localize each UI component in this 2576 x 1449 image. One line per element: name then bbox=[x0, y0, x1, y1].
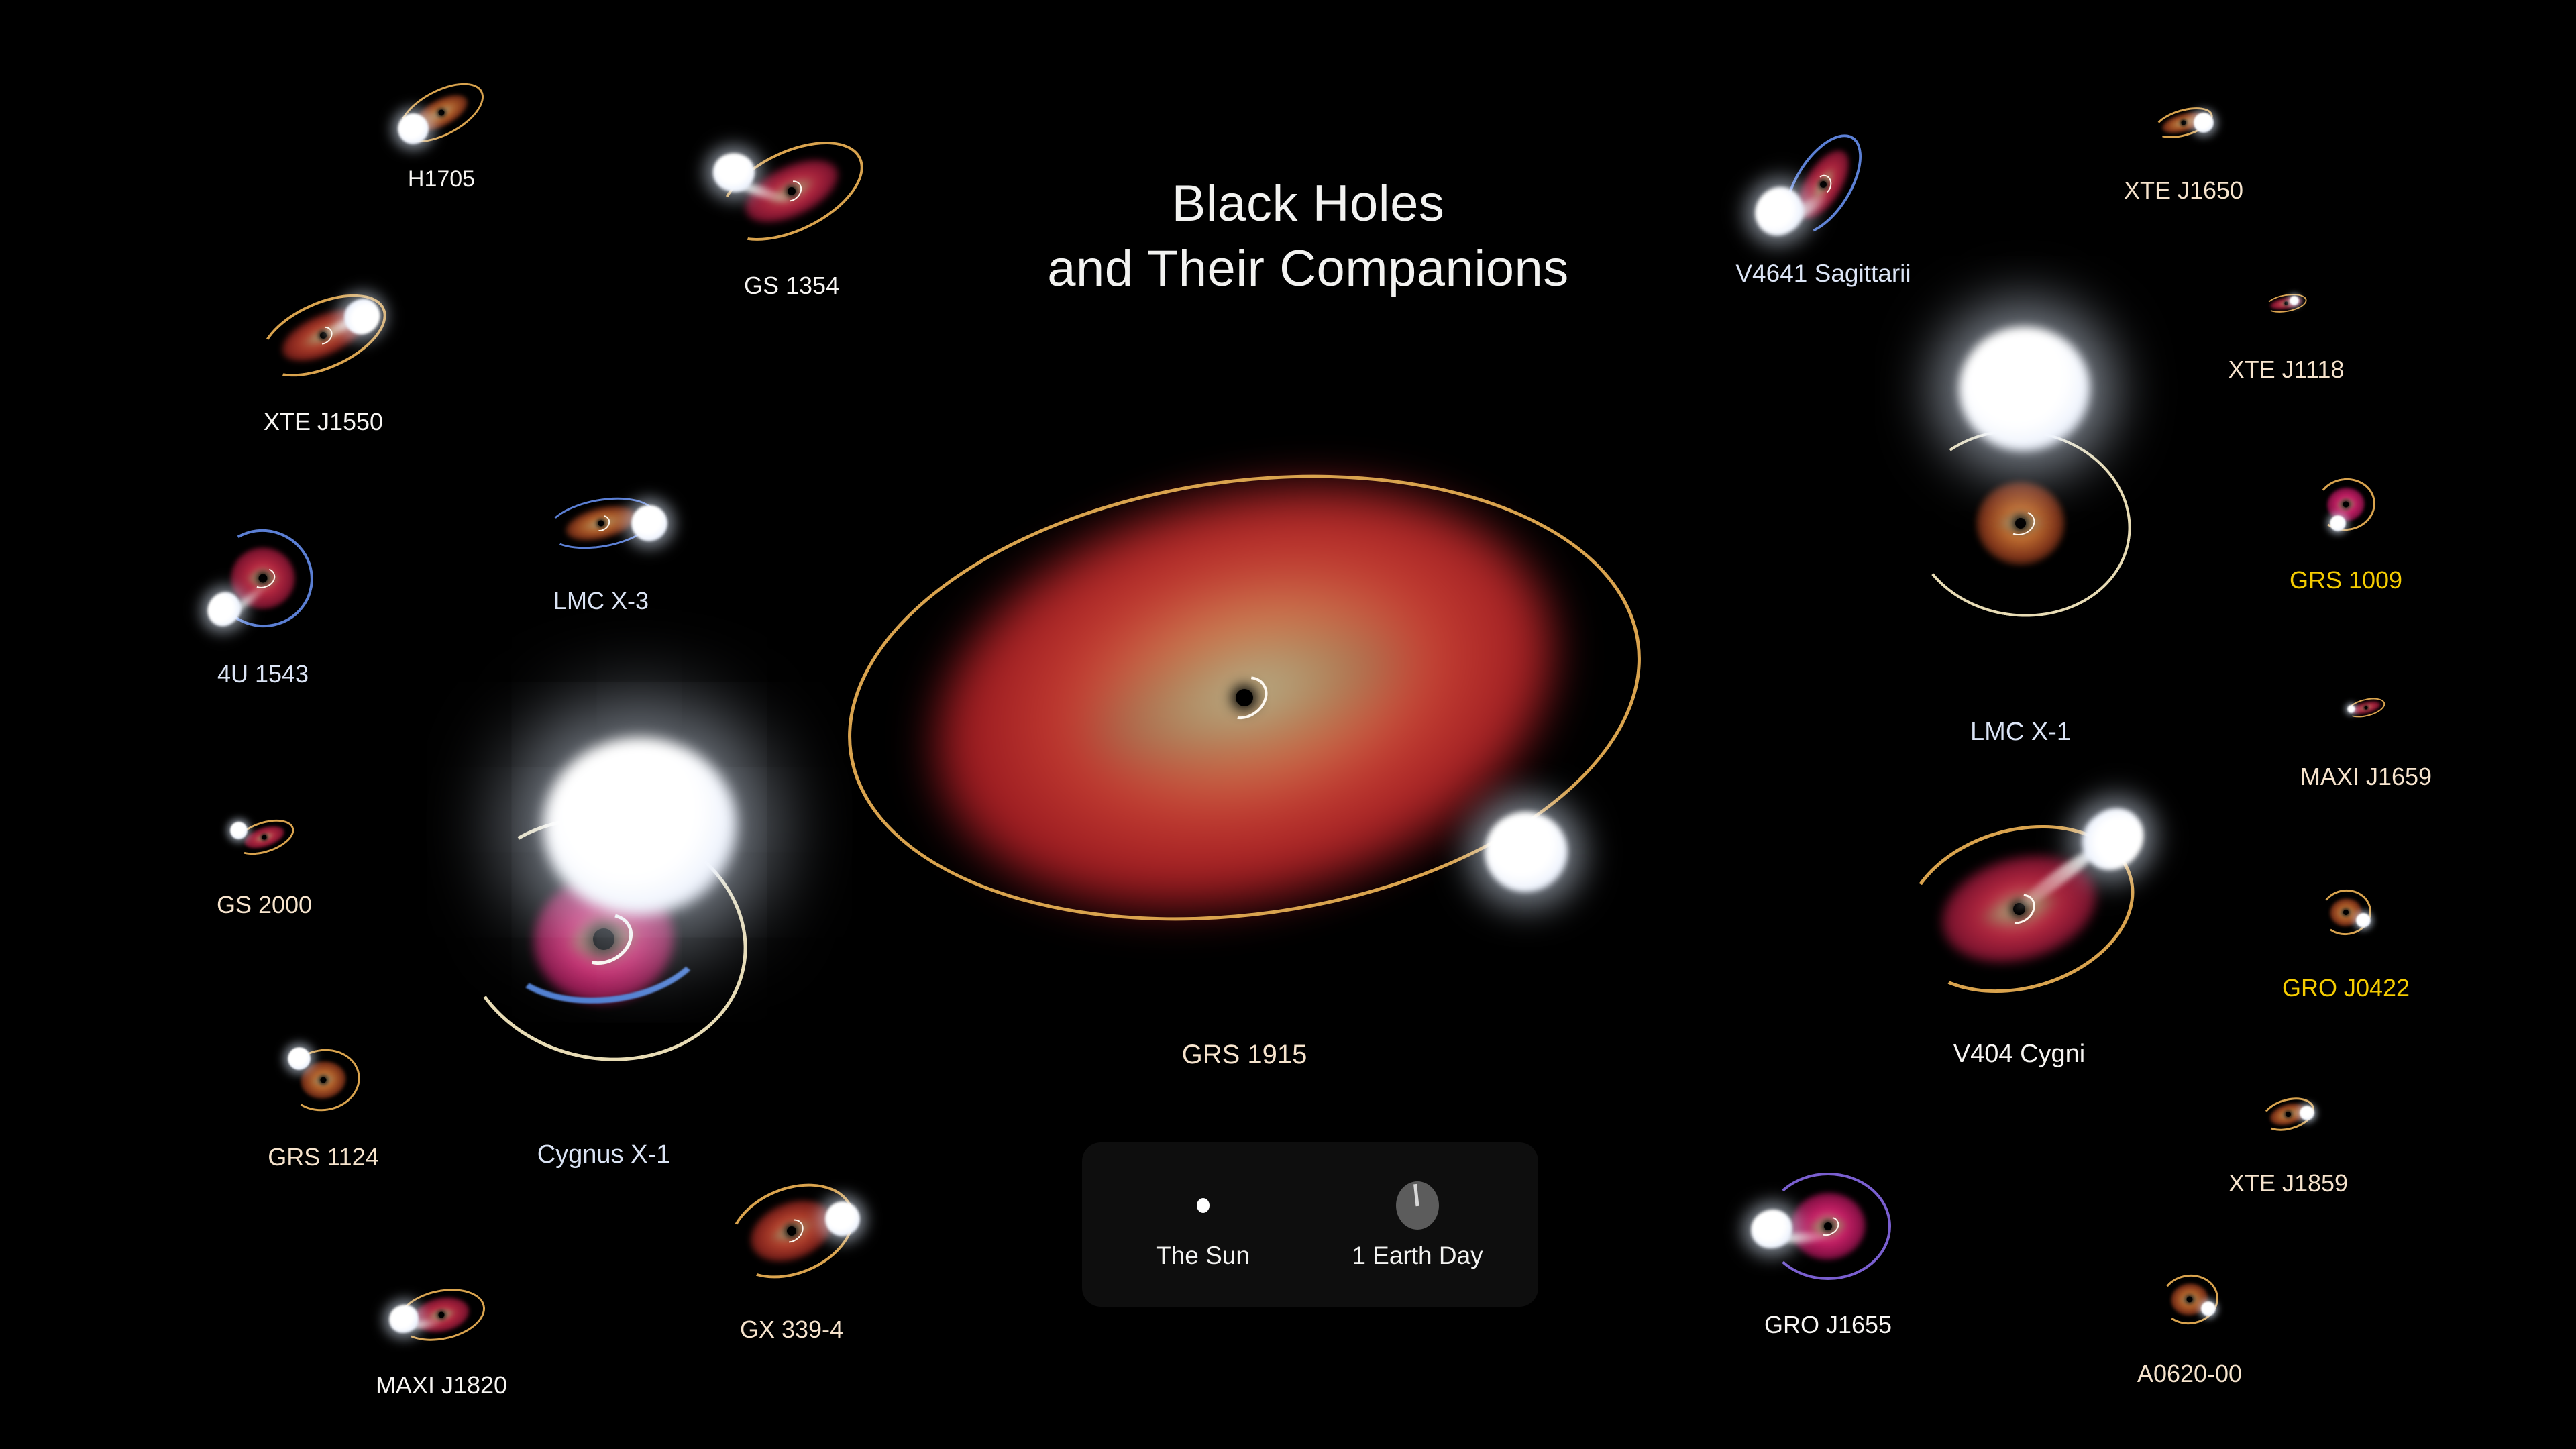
black-hole-grs1124 bbox=[321, 1077, 327, 1083]
black-hole-maxij1820 bbox=[439, 1312, 445, 1318]
system-label-v4641sgr[interactable]: V4641 Sagittarii bbox=[1735, 260, 1911, 288]
companion-star-a062000 bbox=[2201, 1301, 2216, 1316]
companion-star-xtej1118 bbox=[2290, 296, 2299, 305]
system-label-gs1354[interactable]: GS 1354 bbox=[744, 272, 839, 300]
companion-star-grs1009 bbox=[2330, 515, 2346, 531]
black-hole-xtej1859 bbox=[2286, 1112, 2291, 1117]
black-hole-grs1009 bbox=[2343, 502, 2349, 508]
companion-star-grs1915 bbox=[1485, 812, 1568, 892]
earth-day-icon bbox=[1396, 1175, 1439, 1236]
system-label-groj0422[interactable]: GRO J0422 bbox=[2282, 974, 2410, 1002]
system-label-grs1124[interactable]: GRS 1124 bbox=[268, 1143, 378, 1171]
system-label-v404cygni[interactable]: V404 Cygni bbox=[1953, 1040, 2085, 1069]
companion-star-cygnusx1 bbox=[543, 737, 737, 916]
system-label-xtej1118[interactable]: XTE J1118 bbox=[2229, 356, 2345, 384]
system-label-xtej1650[interactable]: XTE J1650 bbox=[2124, 176, 2243, 205]
system-label-gx3394[interactable]: GX 339-4 bbox=[740, 1316, 843, 1344]
black-hole-xtej1118 bbox=[2285, 302, 2288, 305]
legend-label-earth-day: 1 Earth Day bbox=[1352, 1242, 1483, 1270]
sun-icon bbox=[1197, 1175, 1210, 1236]
system-label-maxij1659[interactable]: MAXI J1659 bbox=[2300, 763, 2432, 791]
page-title: Black Holes and Their Companions bbox=[1033, 171, 1583, 302]
companion-star-lmcx3 bbox=[631, 505, 667, 541]
system-label-cygnusx1[interactable]: Cygnus X-1 bbox=[537, 1140, 671, 1169]
companion-star-grs1124 bbox=[288, 1047, 311, 1070]
system-label-lmcx1[interactable]: LMC X-1 bbox=[1970, 718, 2071, 747]
black-hole-a062000 bbox=[2187, 1297, 2193, 1303]
legend-item-earth-day: 1 Earth Day bbox=[1350, 1175, 1485, 1270]
system-label-h1705[interactable]: H1705 bbox=[408, 166, 475, 193]
system-label-lmcx3[interactable]: LMC X-3 bbox=[553, 587, 649, 615]
system-label-maxij1820[interactable]: MAXI J1820 bbox=[376, 1371, 507, 1399]
system-label-xtej1859[interactable]: XTE J1859 bbox=[2229, 1169, 2348, 1197]
system-label-grs1915[interactable]: GRS 1915 bbox=[1182, 1040, 1307, 1070]
companion-star-xtej1859 bbox=[2300, 1106, 2314, 1120]
companion-star-groj0422 bbox=[2356, 913, 2371, 928]
scale-legend: The Sun 1 Earth Day bbox=[1082, 1142, 1538, 1307]
system-label-gs2000[interactable]: GS 2000 bbox=[217, 891, 312, 919]
black-hole-gs2000 bbox=[262, 835, 267, 840]
companion-star-gx3394 bbox=[825, 1201, 860, 1236]
system-label-4u1543[interactable]: 4U 1543 bbox=[217, 660, 309, 688]
black-hole-groj0422 bbox=[2343, 910, 2349, 915]
companion-star-xtej1650 bbox=[2194, 113, 2214, 133]
black-hole-maxij1659 bbox=[2365, 706, 2368, 710]
legend-label-sun: The Sun bbox=[1156, 1242, 1250, 1270]
black-hole-map-canvas: Black Holes and Their Companions H1705GS… bbox=[0, 0, 2576, 1449]
system-label-a062000[interactable]: A0620-00 bbox=[2137, 1360, 2242, 1388]
system-label-xtej1550[interactable]: XTE J1550 bbox=[264, 408, 383, 436]
legend-item-sun: The Sun bbox=[1136, 1175, 1270, 1270]
black-hole-h1705 bbox=[439, 110, 445, 116]
black-hole-xtej1650 bbox=[2182, 121, 2186, 125]
companion-star-lmcx1 bbox=[1959, 327, 2090, 451]
companion-star-gs2000 bbox=[230, 822, 248, 839]
system-label-grs1009[interactable]: GRS 1009 bbox=[2290, 566, 2402, 594]
companion-star-h1705 bbox=[398, 113, 429, 144]
companion-star-maxij1659 bbox=[2347, 705, 2355, 713]
system-label-groj1655[interactable]: GRO J1655 bbox=[1764, 1311, 1892, 1339]
